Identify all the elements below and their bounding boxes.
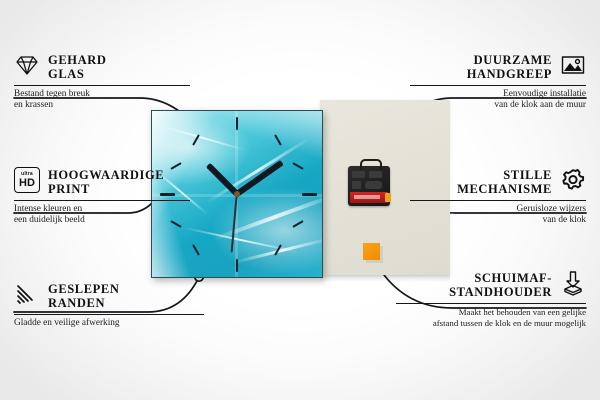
- feature-description: Maakt het behouden van een gelijke afsta…: [396, 307, 586, 329]
- divider: [396, 303, 586, 304]
- feature-stille-mechanisme: STILLE MECHANISME Geruisloze wijzers van…: [410, 167, 586, 226]
- divider: [14, 314, 204, 315]
- feature-description: Bestand tegen breuk en krassen: [14, 89, 190, 111]
- feature-description: Intense kleuren en een duidelijk beeld: [14, 204, 190, 226]
- feature-title: STILLE MECHANISME: [457, 167, 552, 196]
- mechanism-detail: [365, 181, 382, 189]
- beveled-edges-icon: [14, 281, 40, 307]
- feature-geslepen-randen: GESLEPEN RANDEN Gladde en veilige afwerk…: [14, 281, 204, 329]
- gear-icon: [560, 167, 586, 193]
- ultra-hd-icon: ultra HD: [14, 167, 40, 193]
- feature-hoogwaardige-print: ultra HD HOOGWAARDIGE PRINT Intense kleu…: [14, 167, 190, 226]
- tick-3: [302, 193, 317, 196]
- hanger-hook-icon: [360, 159, 382, 170]
- feature-duurzame-handgreep: DUURZAME HANDGREEP Eenvoudige installati…: [410, 52, 586, 111]
- feature-schuimaf-standhouder: SCHUIMAF- STANDHOUDER Maakt het behouden…: [396, 270, 586, 329]
- divider: [410, 200, 586, 201]
- divider: [410, 85, 586, 86]
- tick-12: [236, 117, 238, 130]
- feature-title: SCHUIMAF- STANDHOUDER: [449, 270, 552, 299]
- foam-spacer-pad: [363, 243, 380, 260]
- mechanism-detail: [352, 181, 361, 189]
- feature-description: Eenvoudige installatie van de klok aan d…: [410, 89, 586, 111]
- tick-6: [236, 259, 238, 272]
- ultra-hd-label-main: HD: [19, 178, 35, 189]
- feature-title: HOOGWAARDIGE PRINT: [48, 167, 164, 196]
- diamond-icon: [14, 52, 40, 78]
- clock-mechanism: [348, 166, 390, 206]
- feature-description: Geruisloze wijzers van de klok: [410, 204, 586, 226]
- feature-title: DUURZAME HANDGREEP: [467, 52, 552, 81]
- ultra-hd-label-top: ultra: [21, 172, 33, 177]
- product-infographic: GEHARD GLAS Bestand tegen breuk en krass…: [0, 0, 600, 400]
- press-down-icon: [560, 270, 586, 296]
- mechanism-detail: [369, 171, 382, 178]
- feature-gehard-glas: GEHARD GLAS Bestand tegen breuk en krass…: [14, 52, 190, 111]
- feature-title: GESLEPEN RANDEN: [48, 281, 120, 310]
- battery: [350, 192, 388, 203]
- feature-title: GEHARD GLAS: [48, 52, 106, 81]
- hand-center-cap: [234, 191, 240, 197]
- picture-frame-icon: [560, 52, 586, 78]
- feature-description: Gladde en veilige afwerking: [14, 318, 204, 329]
- battery-label: [354, 195, 380, 199]
- mechanism-detail: [352, 171, 365, 178]
- divider: [14, 200, 190, 201]
- divider: [14, 85, 190, 86]
